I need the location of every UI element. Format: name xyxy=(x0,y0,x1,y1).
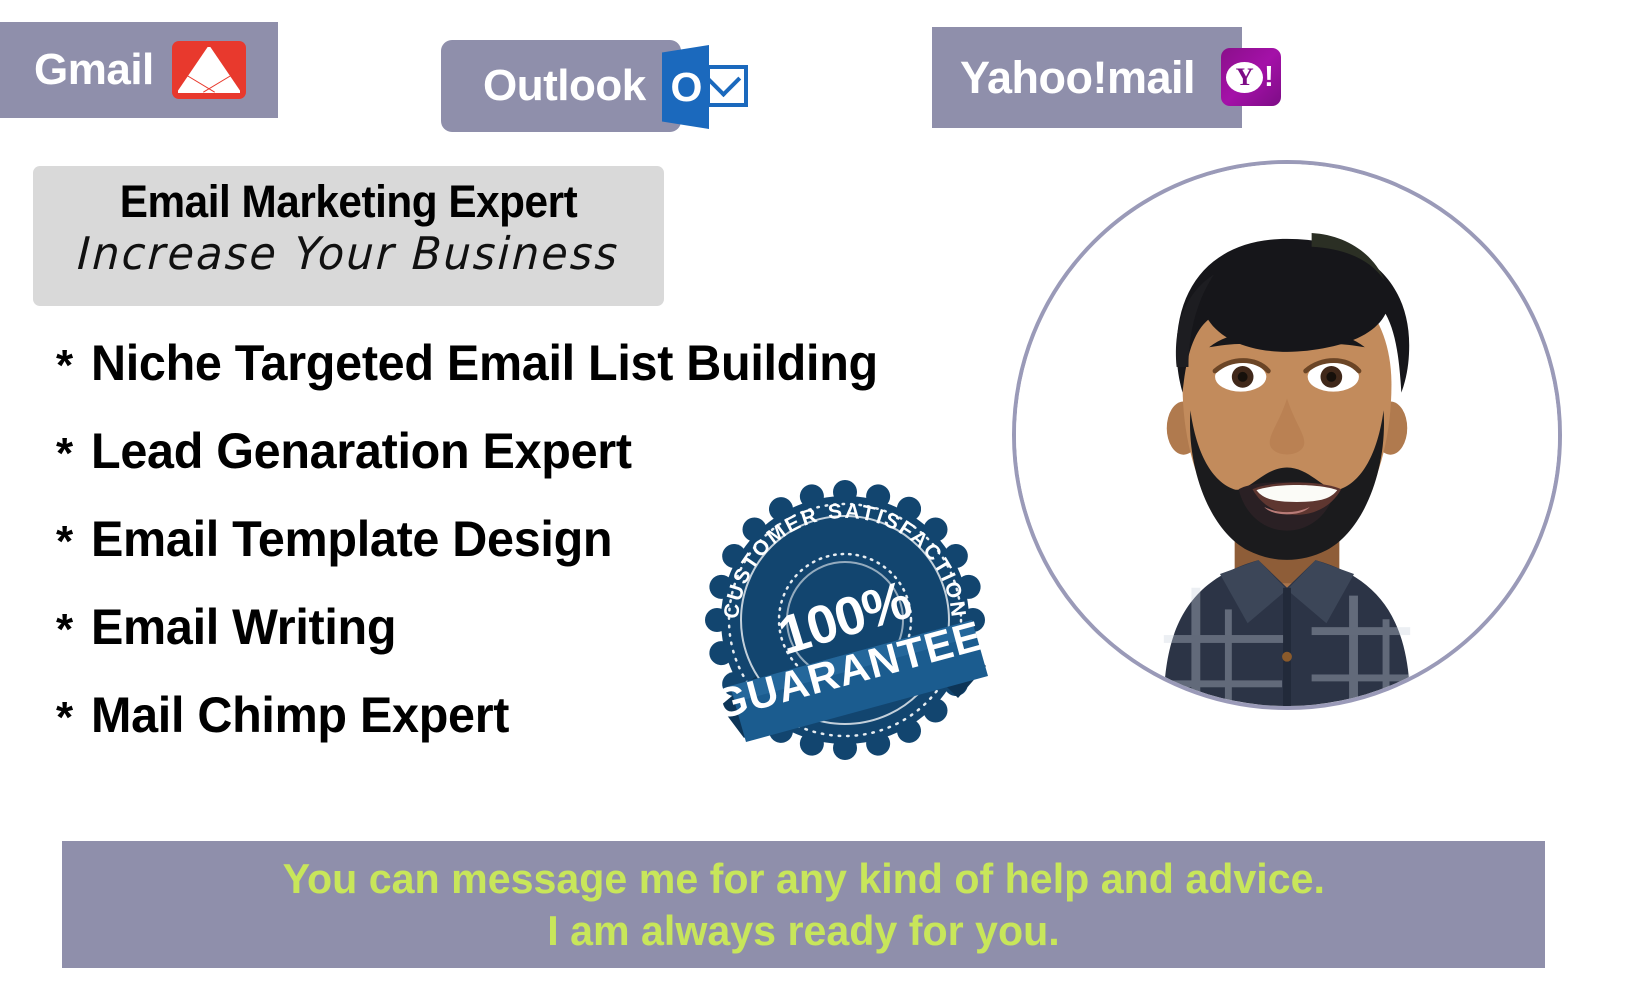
service-label: Email Writing xyxy=(91,598,396,656)
bullet-icon: * xyxy=(56,344,73,388)
avatar xyxy=(1012,160,1562,710)
yahoo-exclamation: ! xyxy=(1264,63,1274,92)
bullet-icon: * xyxy=(56,696,73,740)
provider-label-outlook: Outlook xyxy=(483,61,646,111)
footer-line-2: I am always ready for you. xyxy=(547,906,1059,956)
headline-primary: Email Marketing Expert xyxy=(52,176,645,228)
service-label: Niche Targeted Email List Building xyxy=(91,334,878,392)
provider-label-yahoo: Yahoo!mail xyxy=(960,52,1195,104)
outlook-logo-icon: O xyxy=(662,45,748,129)
provider-badge-outlook[interactable]: Outlook xyxy=(441,40,681,132)
portrait-photo xyxy=(1016,164,1558,706)
service-label: Mail Chimp Expert xyxy=(91,686,509,744)
service-item: * Niche Targeted Email List Building xyxy=(56,334,956,422)
guarantee-seal-badge: CUSTOMER SATISFACTION 100% GUARANTEE xyxy=(700,470,990,780)
service-label: Lead Genaration Expert xyxy=(91,422,632,480)
provider-badge-gmail[interactable]: Gmail xyxy=(0,22,278,118)
provider-label-gmail: Gmail xyxy=(34,45,154,95)
bullet-icon: * xyxy=(56,520,73,564)
footer-banner: You can message me for any kind of help … xyxy=(62,841,1545,968)
provider-badge-yahoo[interactable]: Yahoo!mail xyxy=(932,27,1242,128)
headline-box: Email Marketing Expert Increase Your Bus… xyxy=(33,166,664,306)
bullet-icon: * xyxy=(56,432,73,476)
bullet-icon: * xyxy=(56,608,73,652)
service-label: Email Template Design xyxy=(91,510,612,568)
yahoo-y-letter: Y xyxy=(1226,62,1263,93)
yahoo-logo-icon: Y ! xyxy=(1221,48,1281,106)
footer-line-1: You can message me for any kind of help … xyxy=(282,854,1324,904)
headline-secondary: Increase Your Business xyxy=(47,226,649,282)
gmail-envelope-icon xyxy=(172,41,246,99)
